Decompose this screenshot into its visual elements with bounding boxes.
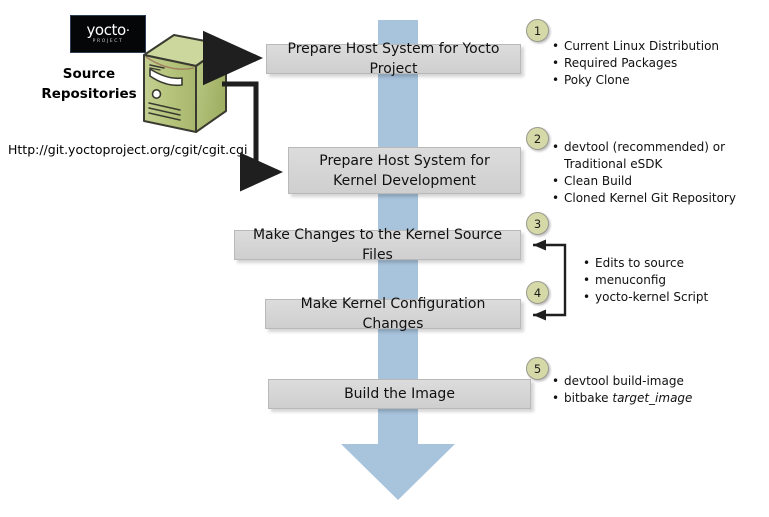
notes-list-steps-3-4: Edits to sourcemenuconfigyocto-kernel Sc… <box>583 255 763 306</box>
process-box-step-3[interactable]: Make Changes to the Kernel Source Files <box>234 230 521 260</box>
note-item: Poky Clone <box>552 72 767 89</box>
yocto-project-logo: yocto· PROJECT <box>70 15 146 53</box>
notes-steps-3-and-4: Edits to sourcemenuconfigyocto-kernel Sc… <box>583 255 763 306</box>
diagram-canvas: yocto· PROJECT Source Repositories Http:… <box>0 0 769 517</box>
step-badge-2: 2 <box>526 127 549 150</box>
step-badge-3: 3 <box>526 212 549 235</box>
note-item: Cloned Kernel Git Repository <box>552 190 767 207</box>
source-label-line-2: Repositories <box>30 84 148 104</box>
main-flow-arrow-head <box>341 444 455 500</box>
notes-step-5: devtool build-imagebitbake target_image <box>552 373 767 407</box>
note-item: yocto-kernel Script <box>583 289 763 306</box>
logo-subtitle: PROJECT <box>93 40 124 45</box>
source-repository-url: Http://git.yoctoproject.org/cgit/cgit.cg… <box>8 142 247 157</box>
notes-step-1: Current Linux DistributionRequired Packa… <box>552 38 767 89</box>
note-item: bitbake target_image <box>552 390 767 407</box>
step-badge-1: 1 <box>526 19 549 42</box>
note-item: menuconfig <box>583 272 763 289</box>
process-box-step-1[interactable]: Prepare Host System for Yocto Project <box>266 44 521 74</box>
note-item: devtool (recommended) or Traditional eSD… <box>552 139 767 173</box>
process-box-step-4[interactable]: Make Kernel Configuration Changes <box>265 299 521 329</box>
connector-feedback-loop-step3-step4 <box>533 240 565 321</box>
logo-dot: · <box>126 24 130 39</box>
source-repositories-label: Source Repositories <box>30 64 148 104</box>
server-tower-icon <box>138 33 230 138</box>
process-box-step-5[interactable]: Build the Image <box>268 379 531 409</box>
note-item: Required Packages <box>552 55 767 72</box>
step-badge-4: 4 <box>526 281 549 304</box>
source-label-line-1: Source <box>30 64 148 84</box>
notes-list-step-5: devtool build-imagebitbake target_image <box>552 373 767 407</box>
logo-wordmark: yocto· <box>86 23 129 38</box>
process-box-step-2[interactable]: Prepare Host System for Kernel Developme… <box>288 147 521 194</box>
notes-step-2: devtool (recommended) or Traditional eSD… <box>552 139 767 207</box>
note-item: Clean Build <box>552 173 767 190</box>
note-item: Edits to source <box>583 255 763 272</box>
notes-list-step-2: devtool (recommended) or Traditional eSD… <box>552 139 767 207</box>
step-badge-5: 5 <box>526 357 549 380</box>
connector-server-to-step2 <box>222 84 278 172</box>
notes-list-step-1: Current Linux DistributionRequired Packa… <box>552 38 767 89</box>
logo-word-text: yocto <box>86 21 125 39</box>
note-item: devtool build-image <box>552 373 767 390</box>
note-item: Current Linux Distribution <box>552 38 767 55</box>
